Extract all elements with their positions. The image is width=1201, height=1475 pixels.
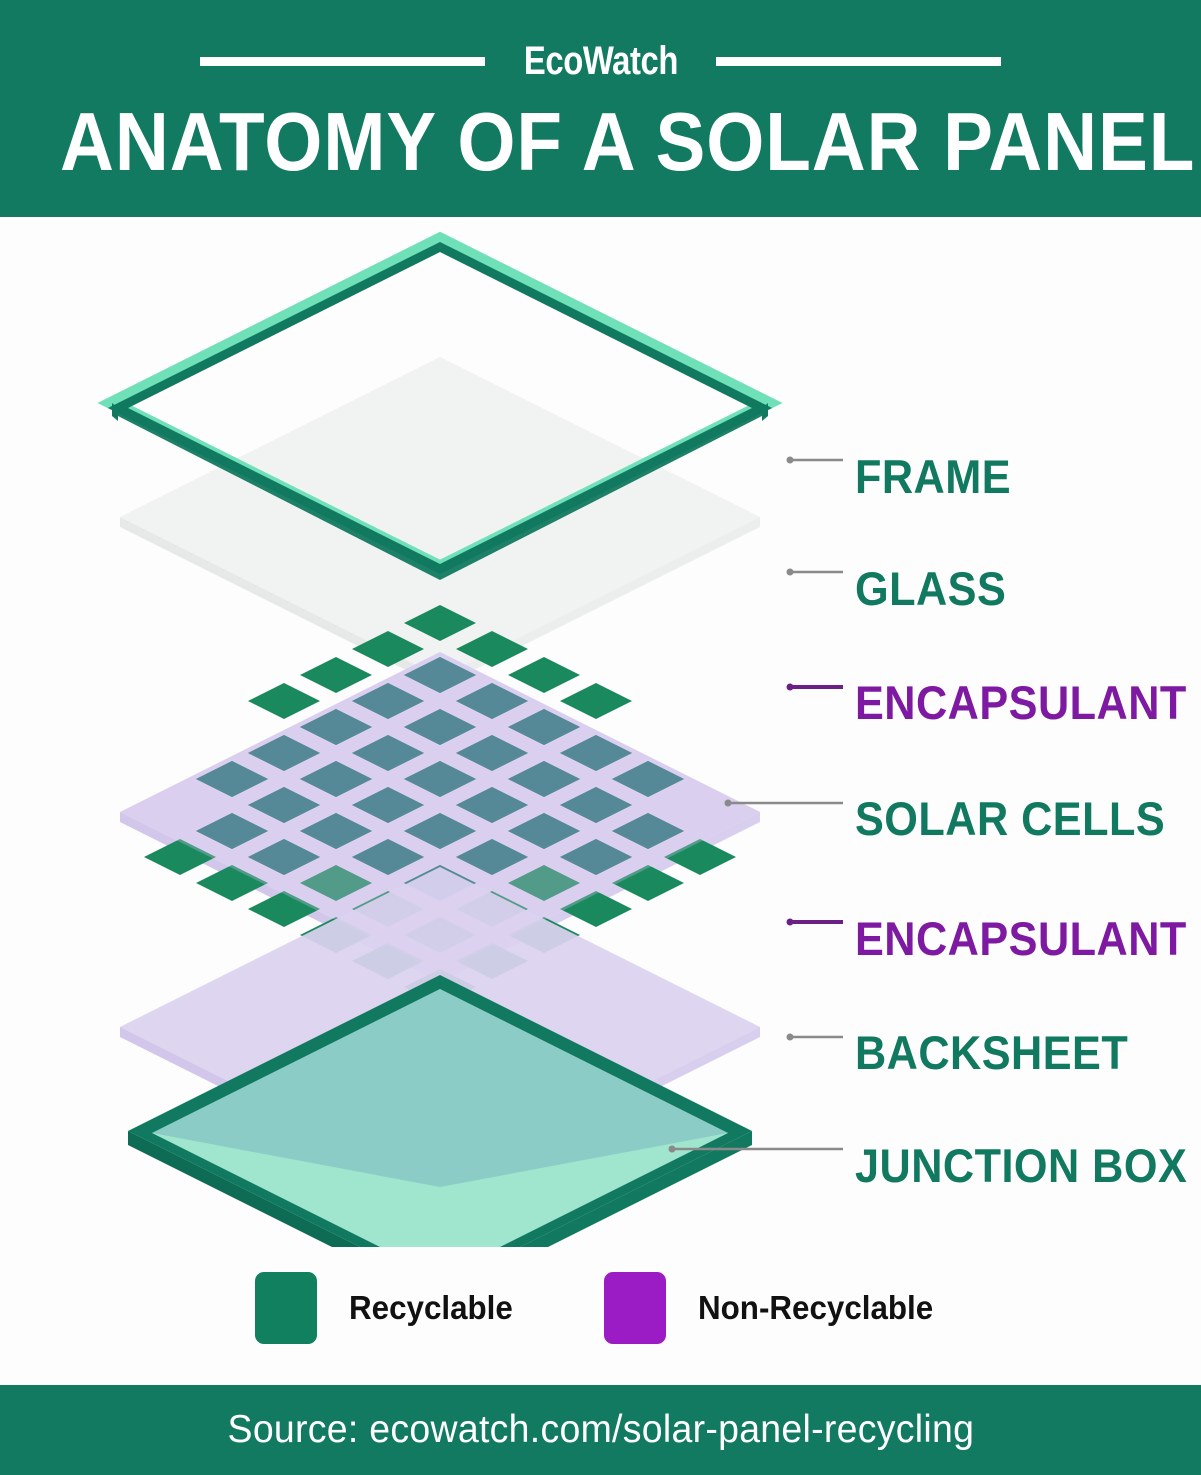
layer-label-solar-cells: SOLAR CELLS xyxy=(855,795,1165,842)
brand-rule-right xyxy=(716,57,1001,66)
layer-label-frame: FRAME xyxy=(855,453,1011,500)
legend-item-non-recyclable: Non-Recyclable xyxy=(604,1272,946,1344)
layer-label-encapsulant-top: ENCAPSULANT xyxy=(855,679,1187,726)
infographic-page: EcoWatch ANATOMY OF A SOLAR PANEL xyxy=(0,0,1201,1475)
legend-label-non-recyclable: Non-Recyclable xyxy=(698,1289,933,1327)
legend-item-recyclable: Recyclable xyxy=(255,1272,521,1344)
legend-label-recyclable: Recyclable xyxy=(349,1289,513,1327)
brand-name: EcoWatch xyxy=(523,39,677,84)
layer-label-backsheet: BACKSHEET xyxy=(855,1029,1128,1076)
brand-row: EcoWatch xyxy=(0,30,1201,92)
solar-panel-exploded-diagram: FRAME GLASS ENCAPSULANT SOLAR CELLS ENCA… xyxy=(0,217,1201,1247)
layer-label-glass: GLASS xyxy=(855,565,1006,612)
source-text: Source: ecowatch.com/solar-panel-recycli… xyxy=(227,1408,974,1452)
page-title: ANATOMY OF A SOLAR PANEL xyxy=(60,95,1141,188)
footer-banner: Source: ecowatch.com/solar-panel-recycli… xyxy=(0,1385,1201,1475)
legend: Recyclable Non-Recyclable xyxy=(0,1258,1201,1358)
layer-label-junction-box: JUNCTION BOX xyxy=(855,1142,1187,1189)
legend-swatch-non-recyclable xyxy=(604,1272,666,1344)
legend-swatch-recyclable xyxy=(255,1272,317,1344)
layer-label-encapsulant-bottom: ENCAPSULANT xyxy=(855,915,1187,962)
header-banner: EcoWatch ANATOMY OF A SOLAR PANEL xyxy=(0,0,1201,217)
brand-rule-left xyxy=(200,57,485,66)
